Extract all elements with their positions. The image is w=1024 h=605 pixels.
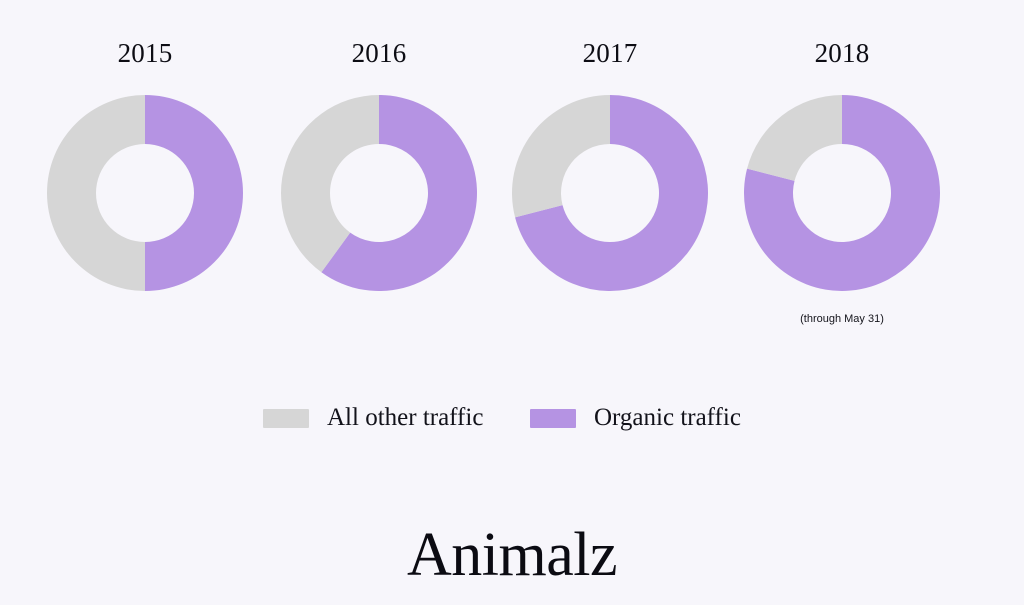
donut-graphic — [47, 95, 243, 291]
legend-swatch-icon — [263, 409, 309, 428]
donut-year-label: 2018 — [724, 37, 960, 69]
donut-chart-2018: 2018 (through May 31) — [724, 0, 960, 340]
chart-legend: All other traffic Organic traffic — [0, 398, 1024, 442]
legend-item-all-other-traffic: All other traffic — [263, 398, 483, 438]
animalz-logo: Animalz — [0, 518, 1024, 592]
donut-slice — [145, 95, 243, 291]
donut-svg — [281, 95, 477, 291]
donut-year-label: 2017 — [492, 37, 728, 69]
donut-svg — [512, 95, 708, 291]
donut-chart-2016: 2016 — [261, 0, 497, 340]
legend-label: Organic traffic — [594, 404, 741, 432]
donut-graphic — [744, 95, 940, 291]
donut-year-label: 2016 — [261, 37, 497, 69]
donut-svg — [744, 95, 940, 291]
donut-chart-2017: 2017 — [492, 0, 728, 340]
legend-swatch-icon — [530, 409, 576, 428]
donut-note: (through May 31) — [724, 312, 960, 326]
donut-chart-row: 2015 2016 2017 2018 (through May 31) — [0, 0, 1024, 340]
donut-slice — [747, 95, 842, 181]
donut-year-label: 2015 — [27, 37, 263, 69]
legend-item-organic-traffic: Organic traffic — [530, 398, 741, 438]
donut-slice — [512, 95, 610, 217]
donut-graphic — [512, 95, 708, 291]
donut-chart-2015: 2015 — [27, 0, 263, 340]
donut-chart-figure: 2015 2016 2017 2018 (through May 31) All… — [0, 0, 1024, 605]
donut-slice — [47, 95, 145, 291]
donut-graphic — [281, 95, 477, 291]
donut-svg — [47, 95, 243, 291]
legend-label: All other traffic — [327, 404, 483, 432]
